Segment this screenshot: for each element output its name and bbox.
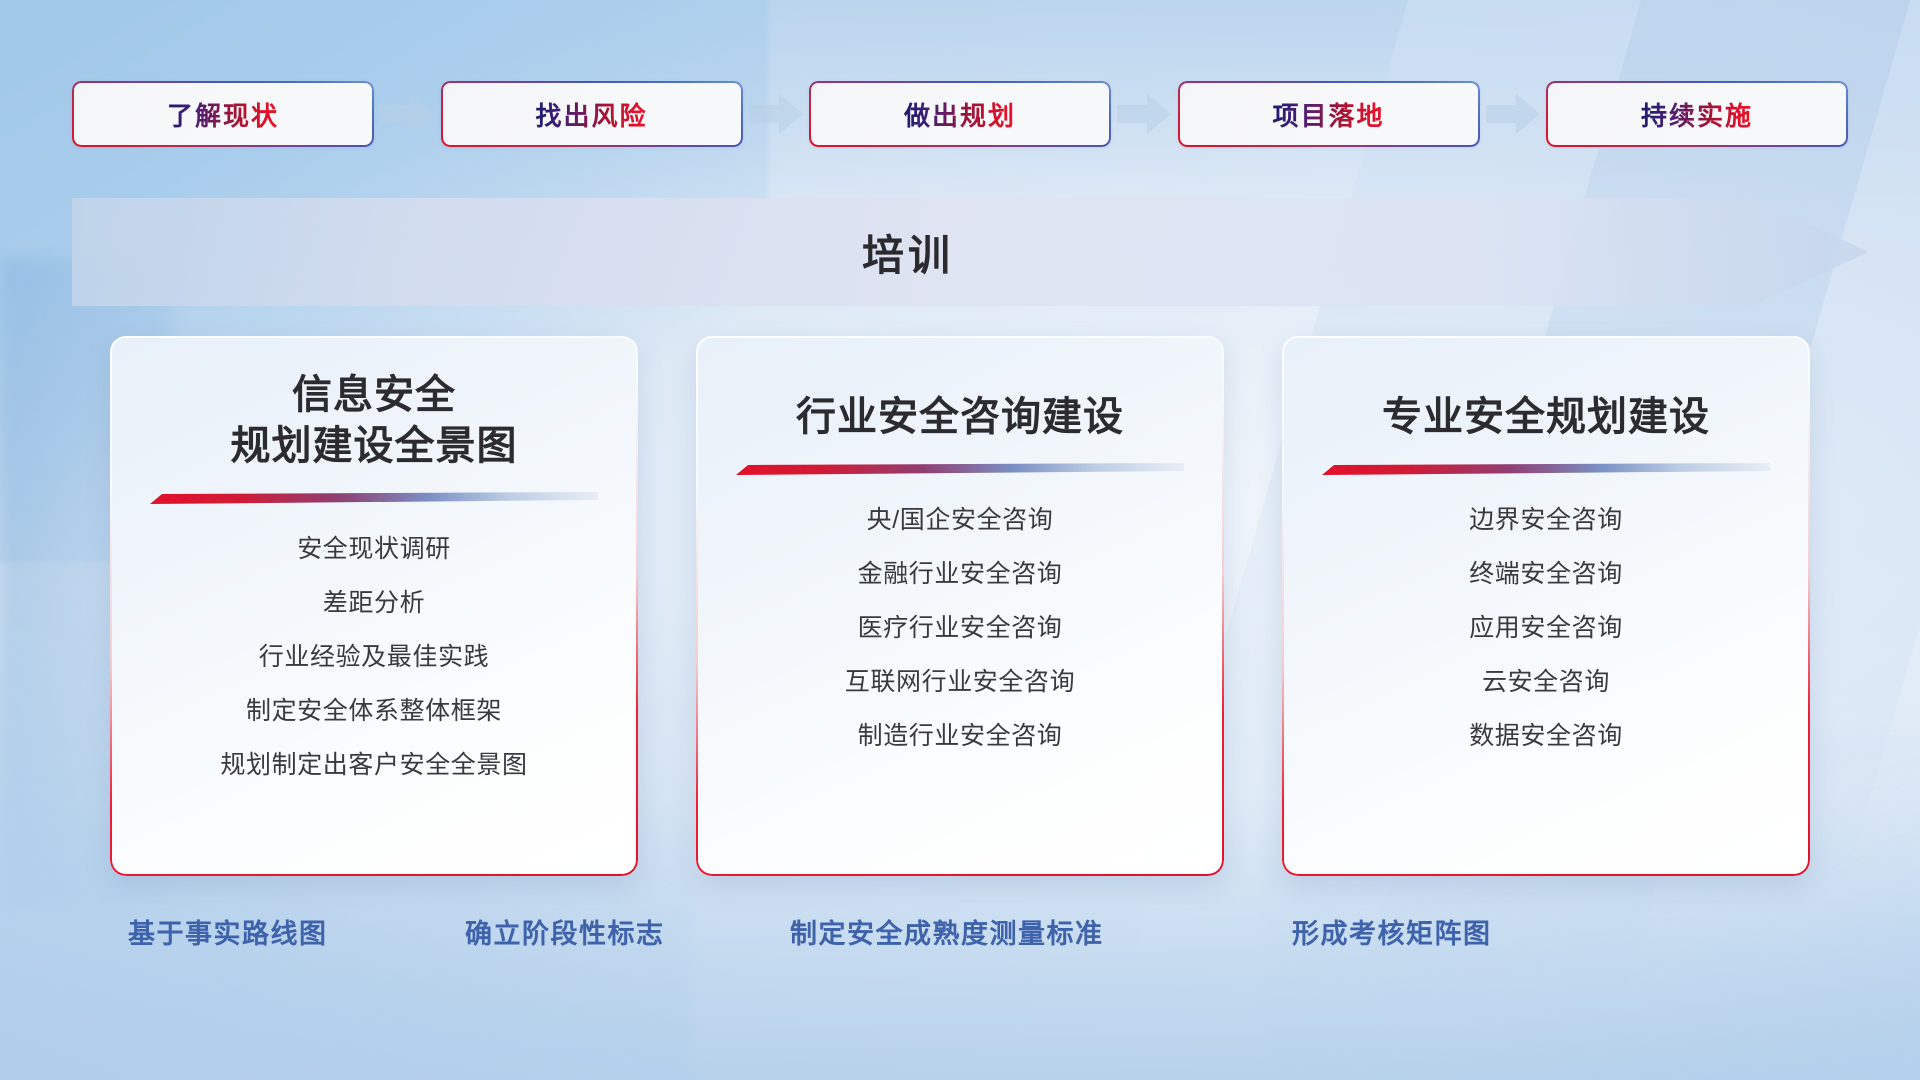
list-item: 金融行业安全咨询	[858, 548, 1063, 600]
step-box-4[interactable]: 项目落地	[1178, 81, 1480, 147]
card-professional-planning[interactable]: 专业安全规划建设	[1282, 336, 1810, 876]
list-item: 云安全咨询	[1482, 656, 1610, 708]
training-banner: 培训	[72, 198, 1868, 306]
list-item: 规划制定出客户安全全景图	[220, 739, 527, 791]
list-item: 制定安全体系整体框架	[246, 685, 502, 737]
list-item: 行业经验及最佳实践	[259, 631, 489, 683]
list-item: 制造行业安全咨询	[858, 710, 1063, 762]
step-box-3[interactable]: 做出规划	[809, 81, 1111, 147]
step-label-4: 项目落地	[1272, 96, 1384, 133]
list-item: 安全现状调研	[297, 523, 451, 575]
card-industry-consulting[interactable]: 行业安全咨询建设	[696, 336, 1224, 876]
list-item: 边界安全咨询	[1469, 494, 1623, 546]
process-step-row: 了解现状 找出风险 做出规划 项目落地	[72, 78, 1848, 150]
card-divider-2	[736, 463, 1184, 476]
step-box-1[interactable]: 了解现状	[72, 81, 374, 147]
card-divider-1	[150, 492, 598, 505]
card-list-1: 安全现状调研 差距分析 行业经验及最佳实践 制定安全体系整体框架 规划制定出客户…	[220, 523, 527, 791]
card-list-2: 央/国企安全咨询 金融行业安全咨询 医疗行业安全咨询 互联网行业安全咨询 制造行…	[845, 494, 1075, 762]
list-item: 数据安全咨询	[1469, 710, 1623, 762]
card-list-3: 边界安全咨询 终端安全咨询 应用安全咨询 云安全咨询 数据安全咨询	[1469, 494, 1623, 762]
list-item: 医疗行业安全咨询	[858, 602, 1063, 654]
list-item: 终端安全咨询	[1469, 548, 1623, 600]
list-item: 应用安全咨询	[1469, 602, 1623, 654]
step-box-2[interactable]: 找出风险	[441, 81, 743, 147]
slide-stage: 了解现状 找出风险 做出规划 项目落地	[0, 0, 1920, 1080]
card-panorama[interactable]: 信息安全 规划建设全景图	[110, 336, 638, 876]
card-title-2: 行业安全咨询建设	[796, 370, 1124, 443]
footer-label-maturity: 制定安全成熟度测量标准	[790, 912, 1104, 951]
card-title-3: 专业安全规划建设	[1382, 370, 1710, 443]
step-label-5: 持续实施	[1641, 96, 1753, 133]
step-arrow-2	[743, 94, 810, 134]
list-item: 央/国企安全咨询	[867, 494, 1054, 546]
step-arrow-4	[1480, 94, 1547, 134]
list-item: 互联网行业安全咨询	[845, 656, 1075, 708]
footer-label-milestone: 确立阶段性标志	[465, 912, 665, 951]
footer-label-roadmap: 基于事实路线图	[128, 912, 328, 951]
step-arrow-1	[374, 94, 441, 134]
training-banner-label: 培训	[72, 198, 1744, 306]
list-item: 差距分析	[323, 577, 425, 629]
step-label-3: 做出规划	[904, 96, 1016, 133]
footer-label-matrix: 形成考核矩阵图	[1292, 912, 1492, 951]
step-arrow-3	[1111, 94, 1178, 134]
step-label-1: 了解现状	[167, 96, 279, 133]
step-label-2: 找出风险	[535, 96, 647, 133]
card-row: 信息安全 规划建设全景图	[110, 336, 1810, 876]
step-box-5[interactable]: 持续实施	[1546, 81, 1848, 147]
card-title-1: 信息安全 规划建设全景图	[231, 370, 518, 472]
card-divider-3	[1322, 463, 1770, 476]
footer-label-row: 基于事实路线图 确立阶段性标志 制定安全成熟度测量标准 形成考核矩阵图	[0, 912, 1920, 968]
